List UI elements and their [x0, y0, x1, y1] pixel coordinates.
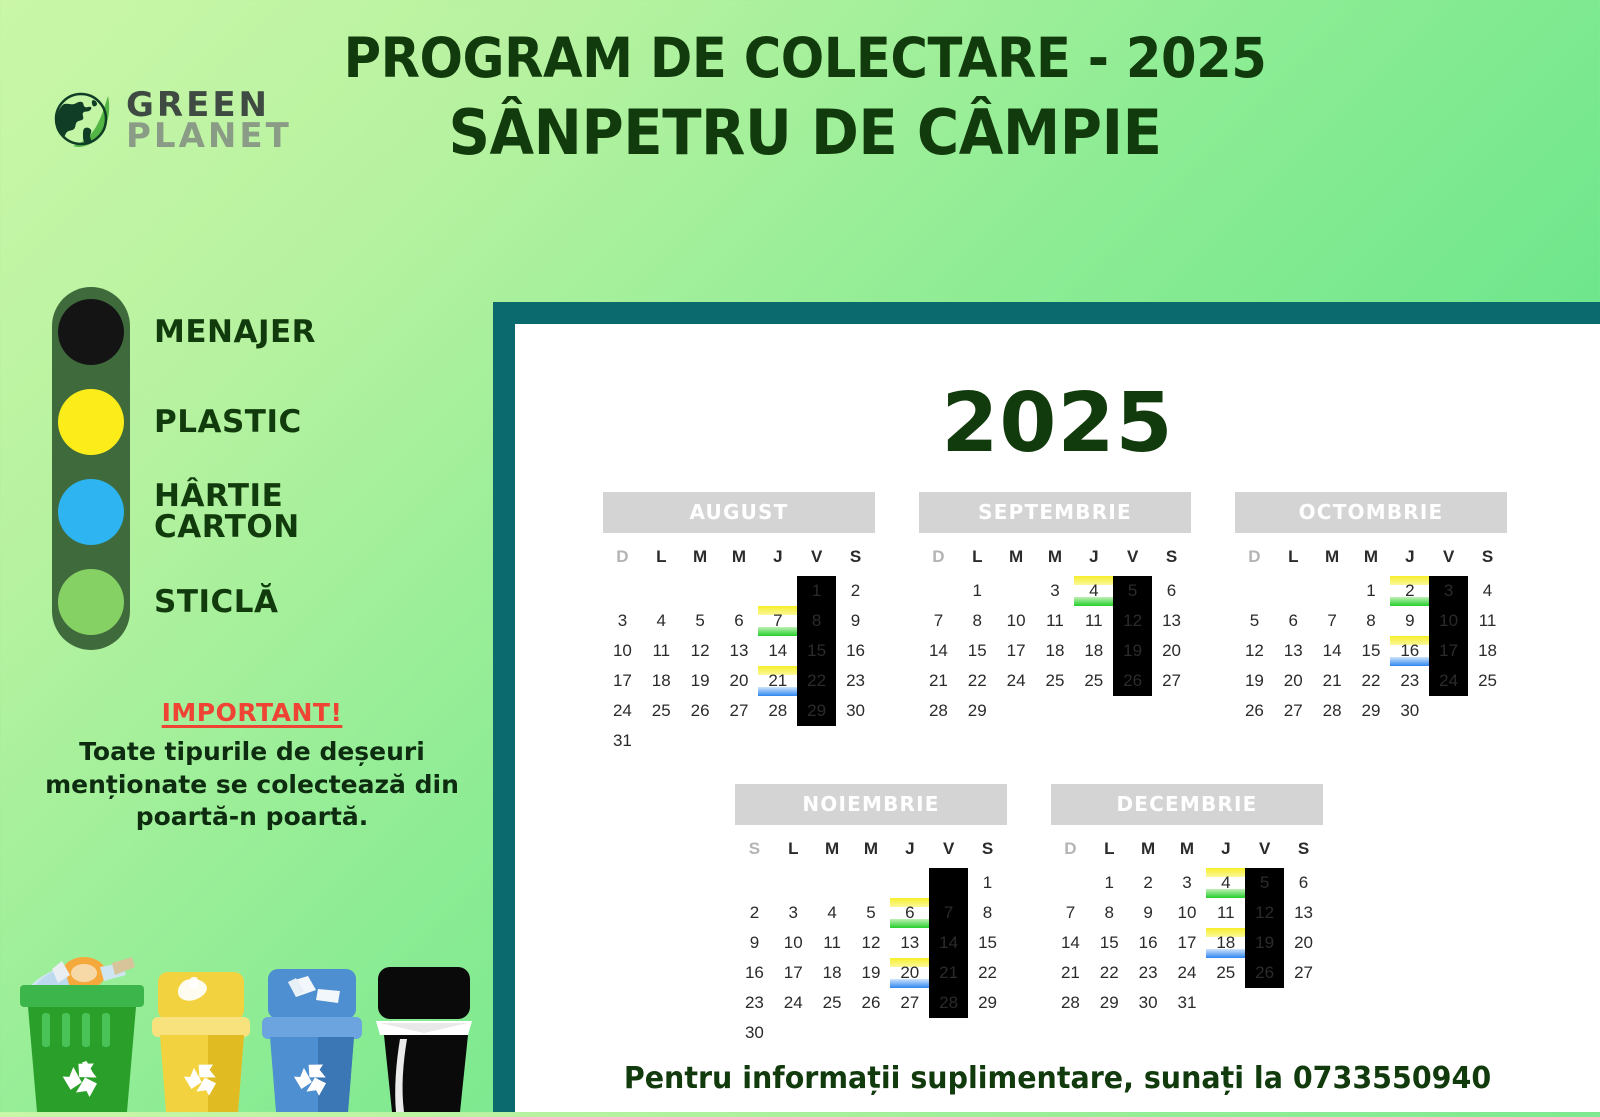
day-number: 25 [652, 701, 671, 720]
day-number: 29 [807, 701, 826, 720]
day-cell [1036, 696, 1075, 726]
collection-schedule-poster: GREEN PLANET PROGRAM DE COLECTARE - 2025… [0, 0, 1600, 1112]
day-number: 28 [1323, 701, 1342, 720]
month-grid: DLMMJVS123456789101112131415161718192021… [1235, 541, 1507, 726]
day-number: 15 [1100, 933, 1119, 952]
month-title: AUGUST [603, 492, 875, 533]
day-number: 15 [807, 641, 826, 660]
day-cell: 15 [958, 636, 997, 666]
day-cell: 7 [1313, 606, 1352, 636]
black-circle-icon [58, 299, 124, 365]
day-cell: 11 [813, 928, 852, 958]
day-cell: 18 [642, 666, 681, 696]
legend-item-menajer: MENAJER [52, 287, 316, 377]
weekday-header: M [1036, 541, 1075, 576]
day-cell [642, 576, 681, 606]
weekday-header: M [1168, 833, 1207, 868]
week-row: 12131415161718 [1235, 636, 1507, 666]
day-number: 10 [1007, 611, 1026, 630]
day-number: 5 [1128, 581, 1137, 600]
day-cell: 25 [1074, 666, 1113, 696]
day-number: 11 [652, 641, 670, 660]
week-row: 123456 [1051, 868, 1323, 898]
day-cell: 8 [1352, 606, 1391, 636]
day-cell: 17 [997, 636, 1036, 666]
month-septembrie: SEPTEMBRIEDLMMJVS13456781011111213141517… [919, 492, 1191, 756]
day-number: 4 [827, 903, 836, 922]
day-cell [603, 576, 642, 606]
day-cell [1074, 696, 1113, 726]
day-number: 29 [968, 701, 987, 720]
day-number: 12 [1245, 641, 1264, 660]
weekday-header: M [813, 833, 852, 868]
day-number: 21 [1323, 671, 1342, 690]
legend-item-label: MENAJER [154, 317, 316, 348]
day-number: 15 [978, 933, 997, 952]
day-cell [890, 1018, 929, 1048]
day-cell [1152, 696, 1191, 726]
day-cell: 10 [1429, 606, 1468, 636]
day-number: 12 [1255, 903, 1274, 922]
day-cell: 26 [1245, 958, 1284, 988]
day-cell: 10 [603, 636, 642, 666]
day-cell [758, 576, 797, 606]
day-number: 11 [1046, 611, 1064, 630]
day-cell [720, 576, 759, 606]
month-grid: SLMMJVS123456789101112131415161718192021… [735, 833, 1007, 1048]
day-number: 19 [861, 963, 880, 982]
day-cell: 29 [968, 988, 1007, 1018]
day-cell [929, 868, 968, 898]
green-bin-general [20, 957, 144, 1112]
week-row: 23242526272829 [735, 988, 1007, 1018]
day-cell: 7 [919, 606, 958, 636]
day-cell: 19 [852, 958, 891, 988]
day-number: 4 [1483, 581, 1492, 600]
day-number: 5 [695, 611, 704, 630]
day-number: 25 [1084, 671, 1103, 690]
day-number: 3 [1050, 581, 1059, 600]
day-cell: 30 [735, 1018, 774, 1048]
month-grid: DLMMJVS123456789101112131415161718192021… [603, 541, 875, 756]
day-cell: 4 [1074, 576, 1113, 606]
day-number: 22 [1100, 963, 1119, 982]
day-number: 25 [1478, 671, 1497, 690]
day-cell: 27 [1284, 958, 1323, 988]
weekday-header: L [1090, 833, 1129, 868]
day-number: 24 [613, 701, 632, 720]
day-cell: 7 [758, 606, 797, 636]
globe-leaf-icon [52, 88, 118, 154]
day-cell [774, 868, 813, 898]
day-cell: 21 [1313, 666, 1352, 696]
title-locality: SÂNPETRU DE CÂMPIE [335, 100, 1274, 165]
day-cell: 25 [1468, 666, 1507, 696]
month-octombrie: OCTOMBRIEDLMMJVS123456789101112131415161… [1235, 492, 1507, 756]
day-cell: 26 [1113, 666, 1152, 696]
day-number: 17 [1007, 641, 1026, 660]
weekday-header: S [1468, 541, 1507, 576]
legend-item-label: PLASTIC [154, 407, 302, 438]
day-number: 9 [750, 933, 759, 952]
day-cell: 6 [1274, 606, 1313, 636]
week-row: 14151617181920 [1051, 928, 1323, 958]
day-cell: 1 [958, 576, 997, 606]
day-number: 12 [1123, 611, 1142, 630]
month-row: NOIEMBRIESLMMJVS123456789101112131415161… [735, 784, 1600, 1048]
day-number: 11 [1217, 903, 1235, 922]
day-cell: 19 [1245, 928, 1284, 958]
day-number: 28 [939, 993, 958, 1012]
weekday-header: J [890, 833, 929, 868]
day-number: 16 [1400, 641, 1419, 660]
day-cell: 24 [603, 696, 642, 726]
day-cell: 11 [1468, 606, 1507, 636]
week-row: 14151718181920 [919, 636, 1191, 666]
day-cell: 3 [1429, 576, 1468, 606]
day-number: 23 [1139, 963, 1158, 982]
day-number: 28 [929, 701, 948, 720]
day-number: 10 [1439, 611, 1458, 630]
day-cell: 28 [1313, 696, 1352, 726]
day-cell: 2 [836, 576, 875, 606]
month-grid: DLMMJVS134567810111112131415171818192021… [919, 541, 1191, 726]
day-cell: 16 [735, 958, 774, 988]
day-cell: 6 [890, 898, 929, 928]
day-number: 27 [1162, 671, 1181, 690]
day-number: 29 [1100, 993, 1119, 1012]
day-cell [681, 576, 720, 606]
day-number: 31 [613, 731, 632, 750]
day-number: 3 [1444, 581, 1453, 600]
day-cell: 12 [1113, 606, 1152, 636]
day-cell: 4 [642, 606, 681, 636]
day-number: 10 [1177, 903, 1196, 922]
day-number: 30 [1400, 701, 1419, 720]
day-cell: 28 [1051, 988, 1090, 1018]
day-number: 1 [812, 581, 821, 600]
day-cell: 30 [836, 696, 875, 726]
day-number: 16 [846, 641, 865, 660]
day-cell: 20 [1152, 636, 1191, 666]
day-number: 18 [823, 963, 842, 982]
day-number: 13 [1294, 903, 1313, 922]
day-cell: 10 [774, 928, 813, 958]
day-cell: 30 [1129, 988, 1168, 1018]
day-number: 30 [745, 1023, 764, 1042]
day-number: 3 [1182, 873, 1191, 892]
day-cell: 20 [1284, 928, 1323, 958]
legend-item-plastic: PLASTIC [52, 377, 316, 467]
day-number: 20 [1294, 933, 1313, 952]
day-cell [997, 696, 1036, 726]
day-number: 16 [1139, 933, 1158, 952]
week-row: 2345678 [735, 898, 1007, 928]
day-number: 20 [1284, 671, 1303, 690]
day-number: 31 [1177, 993, 1196, 1012]
day-cell: 18 [1074, 636, 1113, 666]
day-number: 16 [745, 963, 764, 982]
day-number: 28 [768, 701, 787, 720]
day-cell: 11 [1206, 898, 1245, 928]
day-cell [642, 726, 681, 756]
day-number: 15 [968, 641, 987, 660]
week-row: 21222425252627 [919, 666, 1191, 696]
day-number: 27 [729, 701, 748, 720]
day-cell [852, 1018, 891, 1048]
weekday-header: L [774, 833, 813, 868]
week-row: 28293031 [1051, 988, 1323, 1018]
day-cell: 27 [1274, 696, 1313, 726]
weekday-header: S [1284, 833, 1323, 868]
day-cell: 28 [929, 988, 968, 1018]
green-circle-icon [58, 569, 124, 635]
day-number: 8 [1366, 611, 1375, 630]
day-cell: 24 [774, 988, 813, 1018]
day-number: 26 [1255, 963, 1274, 982]
logo-text-planet: PLANET [126, 121, 292, 152]
day-cell: 22 [968, 958, 1007, 988]
day-number: 14 [939, 933, 958, 952]
day-cell: 14 [1313, 636, 1352, 666]
day-cell: 18 [1206, 928, 1245, 958]
week-row: 31 [603, 726, 875, 756]
day-cell: 17 [603, 666, 642, 696]
legend-item-sticlă: STICLĂ [52, 557, 316, 647]
day-cell: 28 [919, 696, 958, 726]
brand-logo: GREEN PLANET [52, 88, 292, 154]
day-number: 14 [929, 641, 948, 660]
day-cell: 17 [1429, 636, 1468, 666]
day-cell: 30 [1390, 696, 1429, 726]
day-number: 5 [1260, 873, 1269, 892]
waste-type-legend: MENAJERPLASTICHÂRTIE CARTONSTICLĂ [52, 287, 316, 647]
day-number: 29 [978, 993, 997, 1012]
day-cell: 10 [1168, 898, 1207, 928]
day-number: 27 [1284, 701, 1303, 720]
day-cell: 12 [852, 928, 891, 958]
week-row: 2627282930 [1235, 696, 1507, 726]
blue-bin-paper [262, 969, 362, 1112]
week-row: 30 [735, 1018, 1007, 1048]
day-number: 26 [1123, 671, 1142, 690]
day-number: 28 [1061, 993, 1080, 1012]
day-number: 14 [768, 641, 787, 660]
day-cell: 10 [997, 606, 1036, 636]
day-number: 11 [823, 933, 841, 952]
day-number: 9 [1405, 611, 1414, 630]
day-cell: 8 [797, 606, 836, 636]
day-cell [1429, 696, 1468, 726]
day-cell: 7 [1051, 898, 1090, 928]
day-cell: 14 [929, 928, 968, 958]
day-cell: 20 [1274, 666, 1313, 696]
day-number: 6 [734, 611, 743, 630]
day-cell: 28 [758, 696, 797, 726]
day-cell: 27 [1152, 666, 1191, 696]
day-cell: 15 [797, 636, 836, 666]
day-number: 3 [789, 903, 798, 922]
weekday-header: V [1113, 541, 1152, 576]
weekday-header: M [1313, 541, 1352, 576]
day-number: 20 [729, 671, 748, 690]
day-number: 5 [1250, 611, 1259, 630]
weekday-header: D [919, 541, 958, 576]
day-cell: 22 [1090, 958, 1129, 988]
day-cell: 27 [720, 696, 759, 726]
day-cell: 15 [1352, 636, 1391, 666]
month-title: SEPTEMBRIE [919, 492, 1191, 533]
important-notice: IMPORTANT! Toate tipurile de deșeuri men… [12, 698, 492, 834]
day-number: 9 [1143, 903, 1152, 922]
day-number: 17 [1177, 933, 1196, 952]
day-number: 6 [1167, 581, 1176, 600]
day-cell: 25 [1036, 666, 1075, 696]
day-cell: 2 [735, 898, 774, 928]
day-cell: 5 [1235, 606, 1274, 636]
weekday-header: M [852, 833, 891, 868]
day-cell: 16 [836, 636, 875, 666]
weekday-header: S [735, 833, 774, 868]
day-cell: 3 [774, 898, 813, 928]
weekday-header: D [1235, 541, 1274, 576]
month-title: NOIEMBRIE [735, 784, 1007, 825]
week-row: 781011111213 [919, 606, 1191, 636]
day-number: 18 [1478, 641, 1497, 660]
day-cell: 29 [797, 696, 836, 726]
day-number: 26 [1245, 701, 1264, 720]
day-cell: 8 [958, 606, 997, 636]
day-number: 5 [866, 903, 875, 922]
day-cell: 6 [1284, 868, 1323, 898]
day-number: 1 [1366, 581, 1375, 600]
legend-item-label: STICLĂ [154, 587, 279, 618]
day-cell [1284, 988, 1323, 1018]
day-number: 26 [861, 993, 880, 1012]
day-cell: 7 [929, 898, 968, 928]
day-cell [1235, 576, 1274, 606]
day-cell: 8 [968, 898, 1007, 928]
page-title: PROGRAM DE COLECTARE - 2025 SÂNPETRU DE … [300, 30, 1310, 165]
week-row: 21222324252627 [1051, 958, 1323, 988]
day-cell [1113, 696, 1152, 726]
day-cell: 22 [958, 666, 997, 696]
day-cell: 8 [1090, 898, 1129, 928]
week-row: 10111213141516 [603, 636, 875, 666]
day-cell: 5 [852, 898, 891, 928]
day-cell [852, 868, 891, 898]
day-cell: 15 [1090, 928, 1129, 958]
day-cell [968, 1018, 1007, 1048]
weekday-header: S [1152, 541, 1191, 576]
month-august: AUGUSTDLMMJVS123456789101112131415161718… [603, 492, 875, 756]
day-cell: 4 [1468, 576, 1507, 606]
day-cell: 17 [774, 958, 813, 988]
day-number: 1 [973, 581, 982, 600]
day-cell: 19 [681, 666, 720, 696]
day-number: 7 [944, 903, 953, 922]
month-grid: DLMMJVS123456789101112131415161718192021… [1051, 833, 1323, 1018]
day-cell [758, 726, 797, 756]
day-cell: 29 [1352, 696, 1391, 726]
day-cell: 26 [681, 696, 720, 726]
day-number: 30 [846, 701, 865, 720]
day-cell [813, 1018, 852, 1048]
weekday-header: M [1129, 833, 1168, 868]
weekday-header: L [642, 541, 681, 576]
week-row: 567891011 [1235, 606, 1507, 636]
day-number: 25 [823, 993, 842, 1012]
day-cell: 31 [1168, 988, 1207, 1018]
day-cell: 13 [1274, 636, 1313, 666]
day-cell: 4 [813, 898, 852, 928]
day-cell: 3 [1168, 868, 1207, 898]
day-cell: 13 [1152, 606, 1191, 636]
yellow-circle-icon [58, 389, 124, 455]
weekday-header: V [929, 833, 968, 868]
day-number: 14 [1061, 933, 1080, 952]
day-number: 6 [1289, 611, 1298, 630]
day-number: 8 [1105, 903, 1114, 922]
day-number: 4 [1089, 581, 1098, 600]
day-cell: 22 [1352, 666, 1391, 696]
day-number: 7 [773, 611, 782, 630]
day-cell: 5 [1113, 576, 1152, 606]
day-number: 12 [691, 641, 710, 660]
day-cell: 23 [1390, 666, 1429, 696]
day-cell: 3 [603, 606, 642, 636]
day-cell [919, 576, 958, 606]
week-row: 13456 [919, 576, 1191, 606]
day-number: 8 [983, 903, 992, 922]
day-cell: 31 [603, 726, 642, 756]
calendar-year: 2025 [515, 376, 1600, 471]
day-number: 18 [1084, 641, 1103, 660]
day-cell [997, 576, 1036, 606]
day-cell: 24 [997, 666, 1036, 696]
day-number: 17 [1439, 641, 1458, 660]
calendar-card-frame: 2025 AUGUSTDLMMJVS1234567891011121314151… [493, 302, 1600, 1112]
day-cell: 11 [1036, 606, 1075, 636]
week-row: 78910111213 [1051, 898, 1323, 928]
day-number: 20 [900, 963, 919, 982]
day-number: 24 [784, 993, 803, 1012]
day-number: 23 [846, 671, 865, 690]
day-cell: 25 [813, 988, 852, 1018]
month-title: DECEMBRIE [1051, 784, 1323, 825]
day-number: 25 [1216, 963, 1235, 982]
day-cell: 29 [1090, 988, 1129, 1018]
weekday-header: V [1245, 833, 1284, 868]
day-cell: 13 [1284, 898, 1323, 928]
day-number: 24 [1007, 671, 1026, 690]
day-cell: 6 [720, 606, 759, 636]
day-cell: 5 [1245, 868, 1284, 898]
week-row: 19202122232425 [1235, 666, 1507, 696]
day-cell: 20 [720, 666, 759, 696]
day-number: 27 [1294, 963, 1313, 982]
week-row: 3456789 [603, 606, 875, 636]
calendar-card: 2025 AUGUSTDLMMJVS1234567891011121314151… [515, 324, 1600, 1112]
day-cell: 23 [1129, 958, 1168, 988]
day-cell [681, 726, 720, 756]
day-number: 19 [1255, 933, 1274, 952]
day-cell: 1 [1352, 576, 1391, 606]
day-cell: 21 [929, 958, 968, 988]
day-cell: 18 [1036, 636, 1075, 666]
day-number: 14 [1323, 641, 1342, 660]
day-cell: 14 [1051, 928, 1090, 958]
